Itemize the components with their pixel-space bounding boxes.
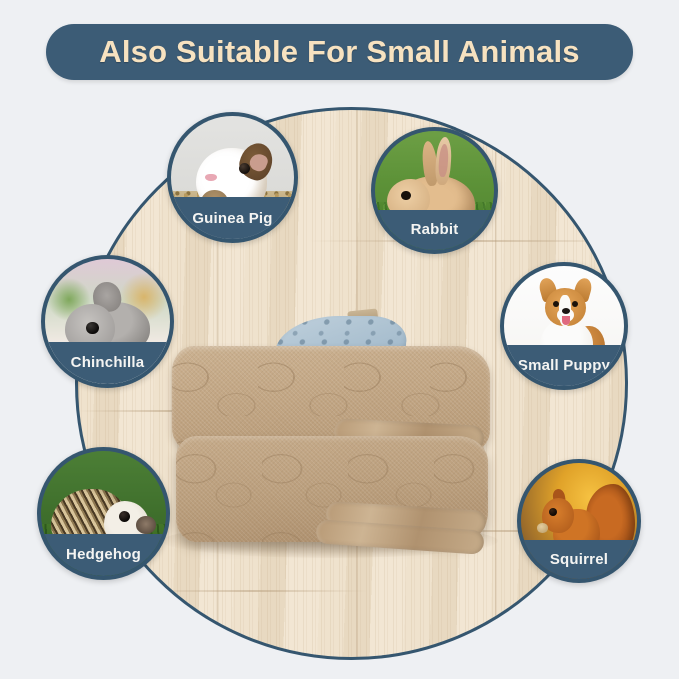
badge-label-band: Hedgehog	[41, 534, 166, 577]
badge-label-band: Chinchilla	[45, 342, 170, 385]
badge-label: Guinea Pig	[192, 210, 272, 227]
badge-label-band: Guinea Pig	[171, 197, 294, 239]
badge-label: Hedgehog	[66, 546, 141, 563]
puppy-eye	[553, 301, 559, 307]
badge-label-band: Squirrel	[521, 540, 637, 579]
chinchilla-eye	[86, 322, 99, 335]
puppy-tongue	[562, 316, 570, 324]
infographic-stage: Also Suitable For Small Animals	[0, 0, 679, 679]
hedgehog-eye	[119, 511, 130, 522]
badge-label: Rabbit	[411, 221, 459, 238]
header-banner: Also Suitable For Small Animals	[46, 24, 633, 80]
badge-label-band: Rabbit	[375, 210, 494, 250]
badge-label: Chinchilla	[71, 354, 145, 371]
badge-label: Small Puppy	[518, 357, 610, 374]
animal-badge-small-puppy[interactable]: Small Puppy	[500, 262, 628, 390]
badge-label-band: Small Puppy	[504, 345, 624, 386]
animal-badge-hedgehog[interactable]: Hedgehog	[37, 447, 170, 580]
animal-badge-rabbit[interactable]: Rabbit	[371, 127, 498, 254]
animal-badge-squirrel[interactable]: Squirrel	[517, 459, 641, 583]
guinea-pig-eye	[239, 163, 250, 174]
squirrel-nut	[537, 523, 547, 532]
floor-plank-seam	[138, 590, 368, 592]
guinea-pig-nose	[205, 174, 216, 181]
animal-badge-chinchilla[interactable]: Chinchilla	[41, 255, 174, 388]
page-title: Also Suitable For Small Animals	[99, 34, 580, 70]
rabbit-eye	[401, 191, 411, 201]
puppy-nose	[562, 308, 570, 314]
product-folded-blanket	[166, 310, 496, 555]
badge-label: Squirrel	[550, 551, 608, 568]
hedgehog-snout	[136, 516, 156, 534]
animal-badge-guinea-pig[interactable]: Guinea Pig	[167, 112, 298, 243]
